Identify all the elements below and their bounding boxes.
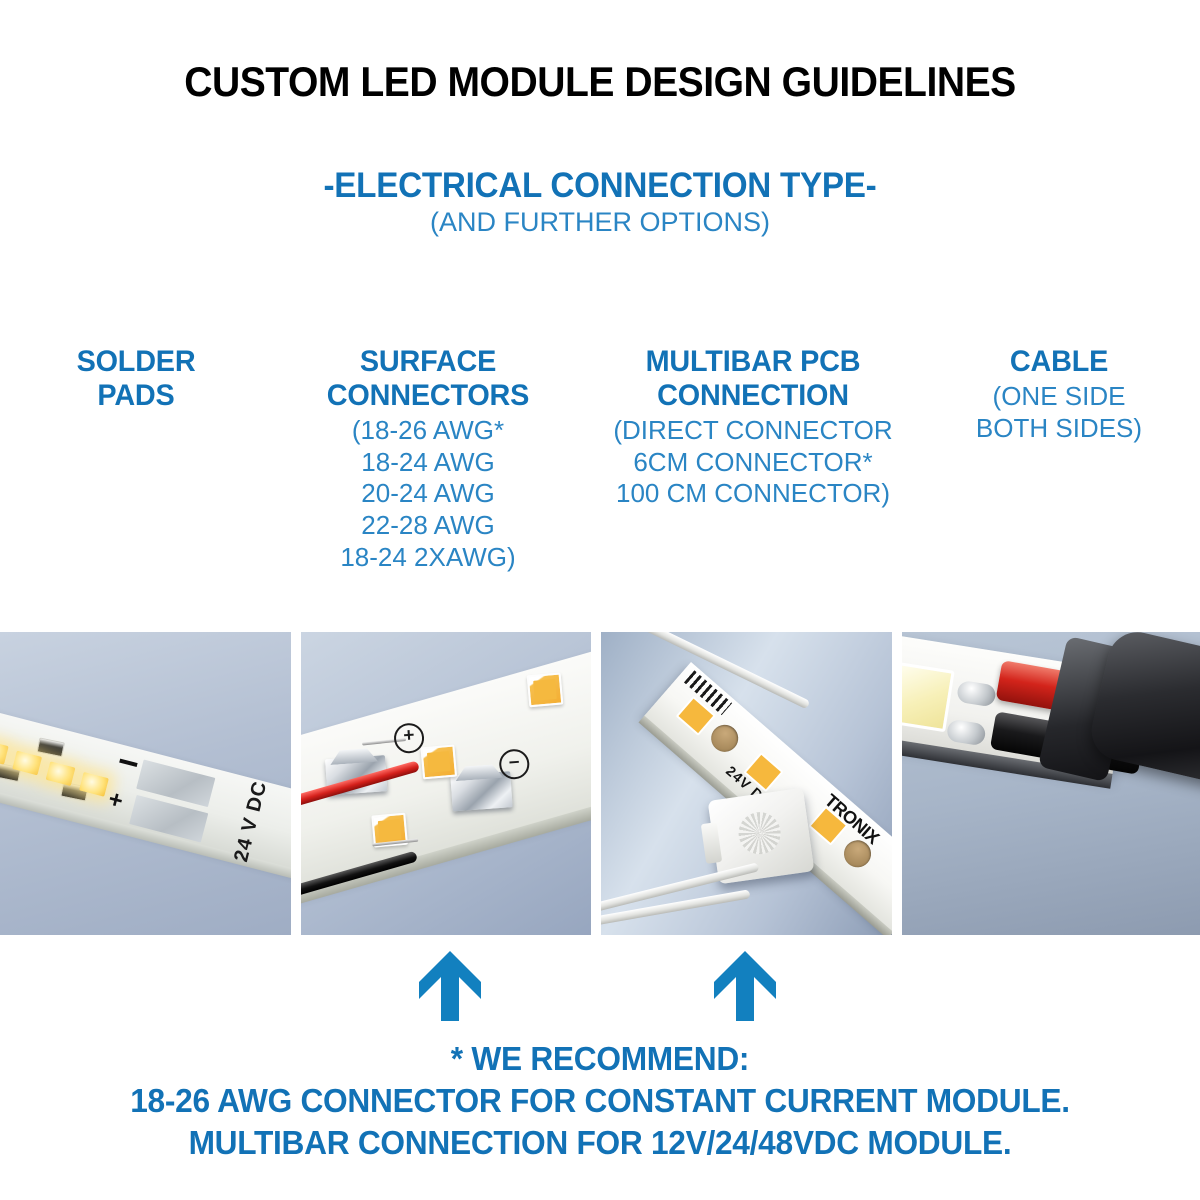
option-item: (18-26 AWG* (268, 415, 588, 447)
column-solder-pads: SOLDER PADS (20, 345, 252, 415)
section-subnote: (AND FURTHER OPTIONS) (0, 207, 1200, 238)
led-chip (46, 761, 76, 786)
option-item: 18-24 2XAWG) (268, 542, 588, 574)
column-title-cable: CABLE (935, 345, 1183, 379)
recommendation-line-1: * WE RECOMMEND: (24, 1038, 1176, 1080)
recommendation-line-2: 18-26 AWG CONNECTOR FOR CONSTANT CURRENT… (24, 1080, 1176, 1122)
led-chip (0, 740, 9, 765)
photo-multibar-pcb: 24V DC Tc TRONIX (601, 632, 892, 935)
photo-solder-pads: + 24 V DC (0, 632, 291, 935)
panel-divider (892, 632, 902, 935)
option-columns: SOLDER PADS SURFACE CONNECTORS (18-26 AW… (0, 345, 1200, 615)
infographic-page: CUSTOM LED MODULE DESIGN GUIDELINES -ELE… (0, 0, 1200, 1200)
solder-joint (945, 719, 986, 747)
option-item: (ONE SIDE (930, 381, 1188, 413)
photo-surface-connectors: + – (301, 632, 592, 935)
column-title-line2: CONNECTORS (274, 379, 581, 413)
column-title-line1: CABLE (935, 345, 1183, 379)
option-item: 20-24 AWG (268, 478, 588, 510)
option-item: 100 CM CONNECTOR) (588, 478, 918, 510)
connector-starburst-icon (736, 809, 783, 856)
column-options-multibar-pcb: (DIRECT CONNECTOR 6CM CONNECTOR* 100 CM … (588, 415, 918, 510)
column-title-line2: PADS (25, 379, 248, 413)
recommendation-line-3: MULTIBAR CONNECTION FOR 12V/24/48VDC MOD… (24, 1122, 1176, 1164)
column-title-surface-connectors: SURFACE CONNECTORS (274, 345, 581, 413)
column-cable: CABLE (ONE SIDE BOTH SIDES) (930, 345, 1188, 444)
column-title-line1: MULTIBAR PCB (595, 345, 912, 379)
photo-cable (902, 632, 1200, 935)
plus-sign-icon: + (106, 787, 126, 814)
smd-resistor (37, 737, 65, 757)
minus-sign-icon (119, 759, 137, 767)
led-chip (902, 662, 955, 733)
arrow-up-icon-multibar-pcb (714, 951, 776, 1021)
column-title-line1: SOLDER (25, 345, 248, 379)
column-title-multibar-pcb: MULTIBAR PCB CONNECTION (595, 345, 912, 413)
panel-divider (291, 632, 301, 935)
section-heading: -ELECTRICAL CONNECTION TYPE- (30, 166, 1170, 206)
solder-joint (956, 680, 997, 708)
column-title-solder-pads: SOLDER PADS (25, 345, 248, 413)
column-title-line2: CONNECTION (595, 379, 912, 413)
column-options-surface-connectors: (18-26 AWG* 18-24 AWG 20-24 AWG 22-28 AW… (268, 415, 588, 574)
column-options-cable: (ONE SIDE BOTH SIDES) (930, 381, 1188, 444)
led-chip (526, 672, 563, 707)
page-title: CUSTOM LED MODULE DESIGN GUIDELINES (42, 58, 1158, 106)
arrow-up-icon-surface-connectors (419, 951, 481, 1021)
recommendation-note: * WE RECOMMEND: 18-26 AWG CONNECTOR FOR … (0, 1038, 1200, 1165)
option-item: 6CM CONNECTOR* (588, 447, 918, 479)
column-multibar-pcb-connection: MULTIBAR PCB CONNECTION (DIRECT CONNECTO… (588, 345, 918, 510)
panel-divider (591, 632, 601, 935)
column-title-line1: SURFACE (274, 345, 581, 379)
option-item: 18-24 AWG (268, 447, 588, 479)
option-item: 22-28 AWG (268, 510, 588, 542)
column-surface-connectors: SURFACE CONNECTORS (18-26 AWG* 18-24 AWG… (268, 345, 588, 573)
option-item: (DIRECT CONNECTOR (588, 415, 918, 447)
mounting-hole (706, 719, 744, 757)
option-item: BOTH SIDES) (930, 413, 1188, 445)
led-chip (420, 745, 457, 780)
photo-strip: + 24 V DC + – (0, 632, 1200, 935)
surface-connector-clip (450, 771, 512, 811)
